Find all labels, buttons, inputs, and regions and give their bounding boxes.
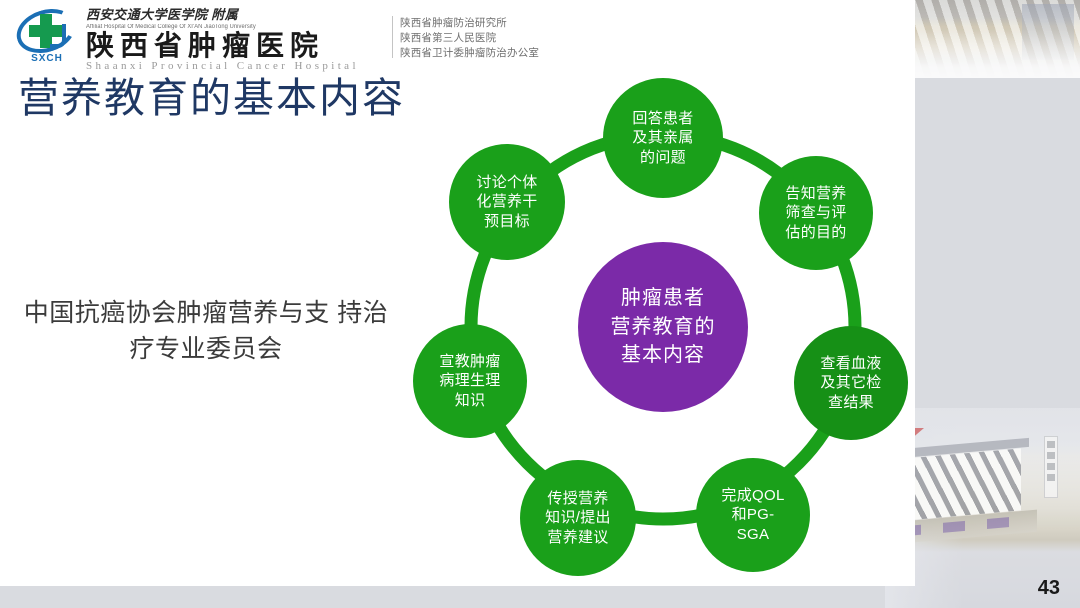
slide-panel: SXCH 西安交通大学医学院 附属 Affiliat Hospital Of M… [0,0,915,586]
cycle-node-n7[interactable] [449,144,565,260]
cycle-node-n4[interactable] [696,458,810,572]
hospital-logo-icon: SXCH [14,8,80,66]
logo-acronym: SXCH [14,53,80,64]
hospital-affiliations-list: 陕西省肿瘤防治研究所 陕西省第三人民医院 陕西省卫计委肿瘤防治办公室 [400,16,539,62]
slide-title: 营养教育的基本内容 [18,76,405,121]
page-number: 43 [1038,577,1060,600]
hospital-name-en: Shaanxi Provincial Cancer Hospital [86,60,386,72]
logo-hook-icon [50,24,66,48]
affiliation-line: 陕西省第三人民医院 [400,31,539,46]
cycle-node-n3[interactable] [794,326,908,440]
vertical-signboard [1044,436,1058,498]
cycle-node-n6[interactable] [413,324,527,438]
cycle-node-n5[interactable] [520,460,636,576]
header-divider [392,16,393,58]
affiliate-name-cn: 西安交通大学医学院 附属 [86,4,386,23]
affiliate-name-en: Affiliat Hospital Of Medical College Of … [86,24,374,30]
center-circle [578,242,748,412]
affiliation-line: 陕西省肿瘤防治研究所 [400,16,539,31]
cycle-node-n2[interactable] [759,156,873,270]
cycle-node-n1[interactable] [603,78,723,198]
hospital-name-cn: 陕西省肿瘤医院 [86,31,386,61]
cycle-diagram: 回答患者 及其亲属 的问题告知营养 筛查与评 估的目的查看血液 及其它检 查结果… [408,60,918,586]
hospital-logo-wordmark: 西安交通大学医学院 附属 Affiliat Hospital Of Medica… [86,4,386,72]
organization-caption: 中国抗癌协会肿瘤营养与支 持治疗专业委员会 [16,296,396,367]
cycle-diagram-svg [408,60,918,586]
